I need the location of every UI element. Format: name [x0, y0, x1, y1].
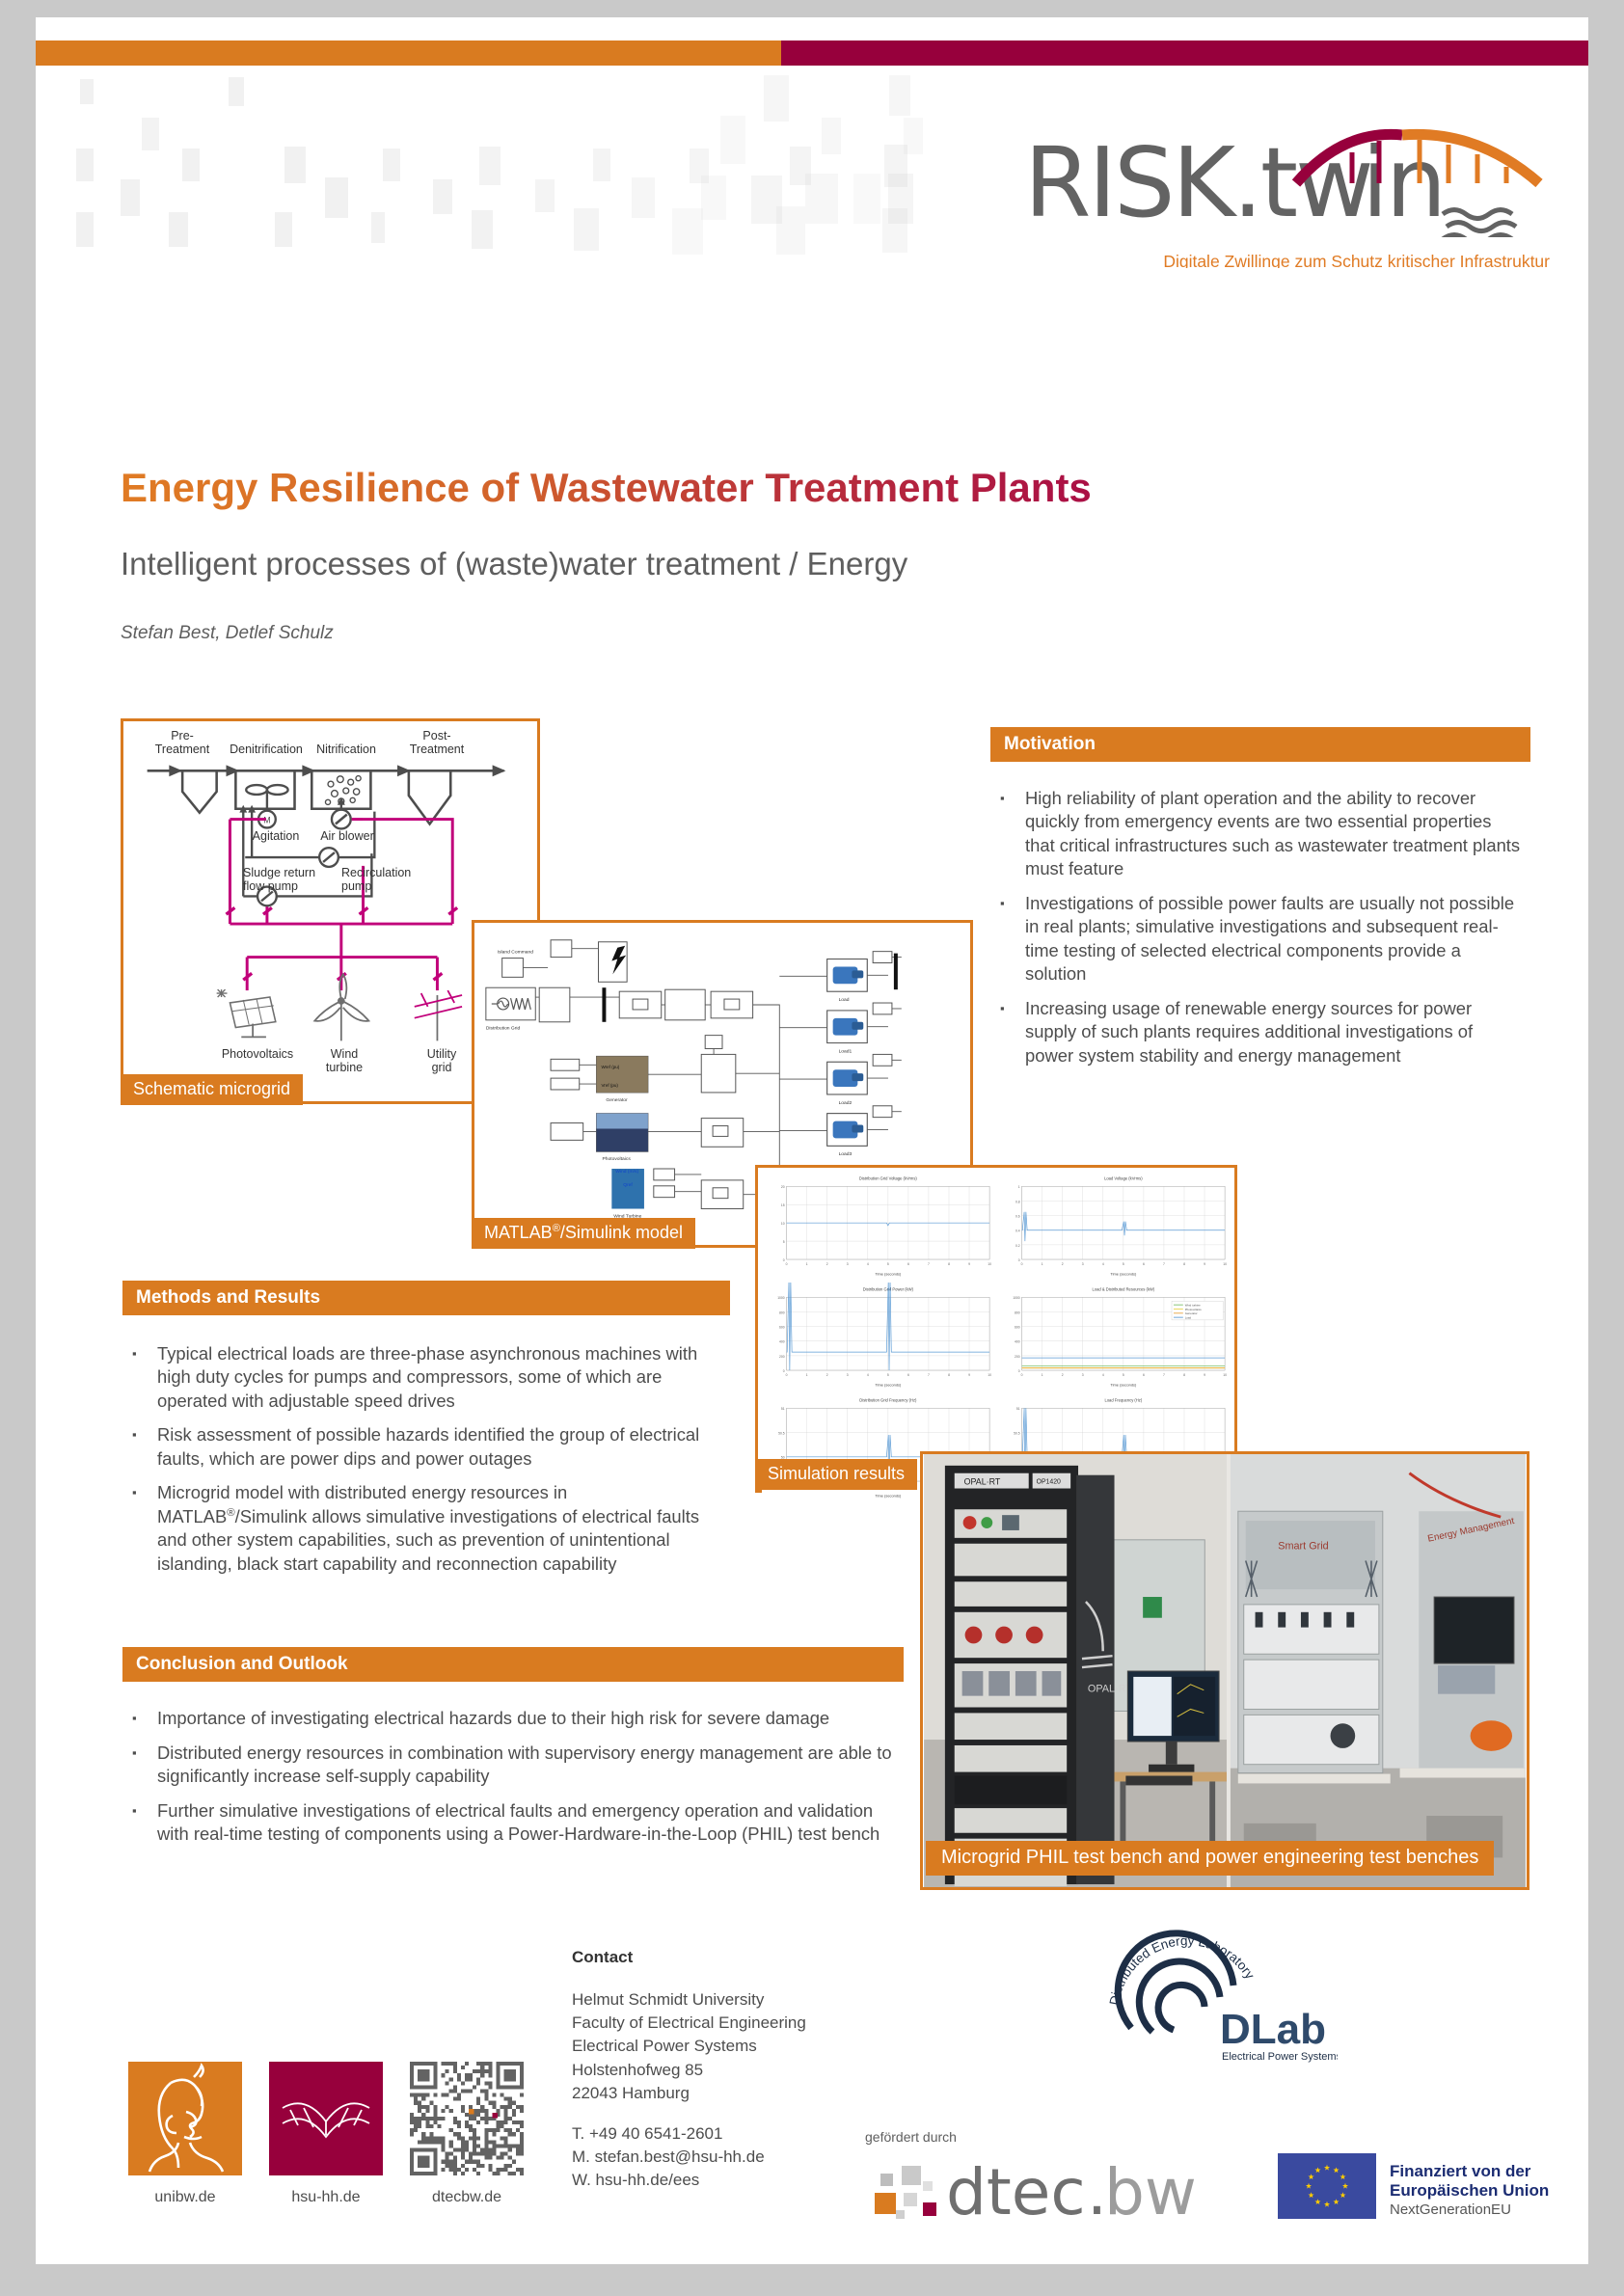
contact-line: Electrical Power Systems [572, 2035, 806, 2058]
bullet-text: Further simulative investigations of ele… [157, 1799, 894, 1847]
svg-text:2: 2 [1062, 1373, 1064, 1377]
eu-line2: Europäischen Union [1390, 2181, 1549, 2200]
svg-text:3: 3 [847, 1373, 849, 1377]
contact-line[interactable]: W. hsu-hh.de/ees [572, 2169, 806, 2192]
conclusion-bullet-list: ▪ Importance of investigating electrical… [132, 1707, 894, 1857]
svg-text:0.6: 0.6 [1015, 1215, 1020, 1219]
svg-text:Generator: Generator [606, 1097, 628, 1103]
bullet-text: Investigations of possible power faults … [1025, 892, 1521, 986]
svg-text:0: 0 [1021, 1262, 1023, 1266]
bullet-item: ▪ Importance of investigating electrical… [132, 1707, 894, 1731]
bullet-item: ▪ High reliability of plant operation an… [1000, 787, 1521, 881]
svg-text:in: in [1362, 126, 1444, 237]
bullet-item: ▪ Microgrid model with distributed energ… [132, 1481, 711, 1576]
plot-xlabel: Time (seconds) [1110, 1272, 1137, 1277]
dlab-logo: Distributed Energy Laboratory DLab Elect… [1096, 1922, 1338, 2066]
svg-text:0.2: 0.2 [1015, 1244, 1020, 1248]
svg-text:9: 9 [1204, 1262, 1205, 1266]
bullet-item: ▪ Further simulative investigations of e… [132, 1799, 894, 1847]
svg-text:2: 2 [826, 1373, 828, 1377]
svg-text:1000: 1000 [777, 1296, 785, 1300]
bridge-icon [269, 2062, 383, 2175]
source-label-utility-grid: Utilitygrid [411, 1047, 473, 1075]
svg-text:Load1: Load1 [839, 1048, 853, 1054]
svg-text:Load: Load [839, 997, 850, 1003]
eu-funding-logo: Finanziert von der Europäischen Union Ne… [1278, 2153, 1567, 2226]
svg-text:0: 0 [1021, 1373, 1023, 1377]
stage-label-pre-treatment: Pre-Treatment [147, 729, 218, 757]
eu-flag-icon: Finanziert von der Europäischen Union Ne… [1278, 2153, 1567, 2221]
stage-label-nitrification: Nitrification [299, 743, 393, 756]
svg-text:1: 1 [1018, 1185, 1020, 1189]
component-label-agitation: Agitation [241, 829, 311, 843]
bullet-item: ▪ Increasing usage of renewable energy s… [1000, 997, 1521, 1067]
bullet-text: Increasing usage of renewable energy sou… [1025, 997, 1521, 1067]
contact-heading: Contact [572, 1946, 806, 1969]
page-subtitle: Intelligent processes of (waste)water tr… [121, 546, 907, 582]
svg-text:50.5: 50.5 [1014, 1432, 1020, 1436]
component-label-sludge-pump: Sludge returnflow pump [243, 866, 336, 894]
section-heading-motivation: Motivation [990, 727, 1530, 762]
svg-text:6: 6 [1143, 1373, 1145, 1377]
bullet-marker: ▪ [1000, 997, 1025, 1067]
svg-text:400: 400 [1015, 1340, 1020, 1344]
bullet-marker: ▪ [1000, 892, 1025, 986]
bullet-text: Importance of investigating electrical h… [157, 1707, 894, 1731]
svg-text:0: 0 [786, 1262, 788, 1266]
svg-text:7: 7 [928, 1373, 930, 1377]
plot-title: Distribution Grid Voltage (kVrms) [859, 1175, 918, 1180]
svg-text:800: 800 [1015, 1311, 1020, 1315]
plot-title: Load & Distributed Resources (kW) [1093, 1287, 1155, 1292]
svg-text:10: 10 [988, 1373, 991, 1377]
authors: Stefan Best, Detlef Schulz [121, 623, 334, 644]
svg-text:10: 10 [781, 1222, 785, 1226]
svg-text:Load3: Load3 [839, 1151, 853, 1157]
svg-text:10: 10 [1223, 1262, 1227, 1266]
top-bar-crimson [781, 41, 1588, 66]
svg-text:7: 7 [1163, 1262, 1165, 1266]
bullet-marker: ▪ [1000, 787, 1025, 881]
svg-text:5: 5 [887, 1262, 889, 1266]
svg-text:Vref (pu): Vref (pu) [601, 1083, 618, 1088]
testbench-photo: OPAL·RT OP1420 OPAL·RT [923, 1454, 1527, 1887]
plot-xlabel: Time (seconds) [875, 1494, 902, 1499]
bullet-text: Risk assessment of possible hazards iden… [157, 1423, 711, 1471]
svg-text:8: 8 [1183, 1373, 1185, 1377]
svg-text:0: 0 [783, 1258, 785, 1262]
svg-text:Load: Load [1185, 1316, 1192, 1320]
svg-text:9: 9 [1204, 1373, 1205, 1377]
svg-text:9: 9 [968, 1262, 970, 1266]
svg-text:Smart Grid: Smart Grid [1278, 1541, 1328, 1553]
bullet-text: Distributed energy resources in combinat… [157, 1742, 894, 1789]
stage-label-post-treatment: Post-Treatment [397, 729, 476, 757]
svg-text:OPAL·RT: OPAL·RT [964, 1477, 1001, 1487]
source-label-wind-turbine: Windturbine [311, 1047, 378, 1075]
svg-text:1: 1 [1042, 1373, 1043, 1377]
logo-unibw[interactable]: unibw.de [128, 2062, 242, 2206]
contact-line: Holstenhofweg 85 [572, 2059, 806, 2082]
svg-text:7: 7 [1163, 1373, 1165, 1377]
contact-line[interactable]: M. stefan.best@hsu-hh.de [572, 2146, 806, 2169]
section-heading-conclusion: Conclusion and Outlook [122, 1647, 904, 1682]
bullet-marker: ▪ [132, 1342, 157, 1413]
plot-xlabel: Time (seconds) [875, 1272, 902, 1277]
svg-text:8: 8 [1183, 1262, 1185, 1266]
logo-hsu-label: hsu-hh.de [269, 2189, 383, 2206]
bullet-marker: ▪ [132, 1707, 157, 1731]
page-title: Energy Resilience of Wastewater Treatmen… [121, 465, 1092, 511]
schematic-caption: Schematic microgrid [121, 1074, 303, 1105]
testbench-caption: Microgrid PHIL test bench and power engi… [926, 1841, 1494, 1876]
top-bar-orange [36, 41, 781, 66]
bullet-item: ▪ Risk assessment of possible hazards id… [132, 1423, 711, 1471]
svg-text:51: 51 [1016, 1408, 1020, 1412]
svg-text:9: 9 [968, 1373, 970, 1377]
svg-text:8: 8 [948, 1373, 950, 1377]
logo-hsu[interactable]: hsu-hh.de [269, 2062, 383, 2206]
simulink-caption-post: /Simulink model [560, 1223, 683, 1242]
plot-title: Load Frequency (Hz) [1104, 1398, 1142, 1403]
svg-text:0.4: 0.4 [1015, 1229, 1020, 1233]
logo-unibw-label: unibw.de [128, 2189, 242, 2206]
plot-xlabel: Time (seconds) [875, 1383, 902, 1388]
risktwin-logo-mark: RISK.tw in [1024, 123, 1550, 237]
header-band: RISK.tw in [36, 66, 1588, 268]
svg-text:Wind (m/s): Wind (m/s) [615, 1169, 638, 1175]
plot-title: Distribution Grid Frequency (Hz) [859, 1398, 917, 1403]
svg-text:10: 10 [1223, 1373, 1227, 1377]
svg-text:8: 8 [948, 1262, 950, 1266]
dtecbw-suffix: bw [1104, 2155, 1197, 2224]
top-color-bar [36, 41, 1588, 66]
svg-text:6: 6 [907, 1262, 909, 1266]
svg-text:0.8: 0.8 [1015, 1200, 1020, 1203]
svg-text:Wref (pu): Wref (pu) [601, 1065, 619, 1069]
svg-text:4: 4 [867, 1262, 869, 1266]
eu-line3: NextGenerationEU [1390, 2201, 1511, 2218]
dlab-arc-text: Distributed Energy Laboratory [1107, 1933, 1258, 2007]
svg-text:RISK.tw: RISK.tw [1024, 126, 1371, 237]
svg-text:4: 4 [1102, 1373, 1104, 1377]
bullet-marker: ▪ [132, 1481, 157, 1576]
svg-text:Island Command: Island Command [498, 950, 534, 956]
svg-text:15: 15 [781, 1203, 785, 1207]
svg-text:20: 20 [781, 1185, 785, 1189]
svg-text:5: 5 [887, 1373, 889, 1377]
svg-text:3: 3 [847, 1262, 849, 1266]
logo-dtecbw-qr[interactable]: dtecbw.de [410, 2062, 524, 2206]
poster-sheet: RISK.tw in [36, 17, 1588, 2264]
svg-text:600: 600 [779, 1326, 785, 1330]
simulink-caption: MATLAB®/Simulink model [472, 1218, 695, 1249]
simulation-plot: Load & Distributed Resources (kW) 020040… [997, 1283, 1231, 1391]
simulation-plot-grid: Distribution Grid Voltage (kVrms) 051015… [762, 1172, 1231, 1486]
motivation-bullet-list: ▪ High reliability of plant operation an… [1000, 787, 1521, 1078]
svg-text:OPAL·RT: OPAL·RT [1088, 1684, 1132, 1695]
dtecbw-word: dtec [946, 2155, 1086, 2224]
dlab-wordmark: DLab [1220, 2006, 1326, 2053]
bullet-item: ▪ Investigations of possible power fault… [1000, 892, 1521, 986]
simulation-plot: Distribution Grid Power (kW) 02004006008… [762, 1283, 995, 1391]
svg-text:3: 3 [1082, 1262, 1084, 1266]
dtecbw-logo: dtec . bw [863, 2147, 1239, 2228]
contact-line: Helmut Schmidt University [572, 1988, 806, 2012]
contact-details[interactable]: T. +49 40 6541-2601M. stefan.best@hsu-hh… [572, 2122, 806, 2192]
svg-text:50.5: 50.5 [778, 1432, 785, 1436]
bullet-marker: ▪ [132, 1423, 157, 1471]
poster-root: RISK.tw in [0, 0, 1624, 2296]
svg-text:5: 5 [783, 1240, 785, 1244]
contact-line[interactable]: T. +49 40 6541-2601 [572, 2122, 806, 2146]
svg-text:1: 1 [806, 1262, 808, 1266]
simulation-results-figure: Distribution Grid Voltage (kVrms) 051015… [755, 1165, 1237, 1493]
minerva-head-icon [128, 2062, 242, 2175]
bullet-marker: ▪ [132, 1799, 157, 1847]
simulation-plot: Load Voltage (kVrms) 00.20.40.60.8101234… [997, 1172, 1231, 1281]
svg-text:400: 400 [779, 1340, 785, 1344]
risktwin-logo: RISK.tw in [1024, 123, 1550, 268]
bullet-item: ▪ Distributed energy resources in combin… [132, 1742, 894, 1789]
simulink-caption-pre: MATLAB [484, 1223, 553, 1242]
svg-text:0: 0 [786, 1373, 788, 1377]
dlab-logo-mark: Distributed Energy Laboratory DLab Elect… [1096, 1922, 1338, 2066]
svg-text:2: 2 [826, 1262, 828, 1266]
svg-text:5: 5 [1123, 1373, 1124, 1377]
svg-text:800: 800 [779, 1311, 785, 1315]
svg-text:51: 51 [781, 1408, 785, 1412]
svg-text:7: 7 [928, 1262, 930, 1266]
risktwin-tagline: Digitale Zwillinge zum Schutz kritischer… [1163, 252, 1550, 268]
bullet-text: Typical electrical loads are three-phase… [157, 1342, 711, 1413]
testbench-photo-figure: OPAL·RT OP1420 OPAL·RT [920, 1451, 1529, 1890]
svg-text:Load2: Load2 [839, 1100, 853, 1106]
qr-code-icon [410, 2062, 524, 2175]
svg-text:1: 1 [806, 1373, 808, 1377]
funding-note: gefördert durch [865, 2129, 957, 2145]
svg-text:3: 3 [1082, 1373, 1084, 1377]
simulation-plot: Distribution Grid Voltage (kVrms) 051015… [762, 1172, 995, 1281]
svg-text:Qref: Qref [623, 1182, 633, 1188]
contact-block: Contact Helmut Schmidt UniversityFaculty… [572, 1946, 806, 2192]
source-label-photovoltaics: Photovoltaics [214, 1047, 301, 1061]
svg-text:4: 4 [867, 1373, 869, 1377]
dlab-subtitle: Electrical Power Systems [1222, 2051, 1338, 2063]
bullet-text: Microgrid model with distributed energy … [157, 1481, 711, 1576]
contact-line: 22043 Hamburg [572, 2082, 806, 2105]
section-heading-methods: Methods and Results [122, 1281, 730, 1315]
svg-text:200: 200 [779, 1355, 785, 1359]
svg-text:600: 600 [1015, 1326, 1020, 1330]
svg-text:Photovoltaics: Photovoltaics [602, 1156, 631, 1162]
svg-text:2: 2 [1062, 1262, 1064, 1266]
svg-text:10: 10 [988, 1262, 991, 1266]
eu-line1: Finanziert von der [1390, 2162, 1531, 2180]
svg-text:6: 6 [907, 1373, 909, 1377]
simulation-caption: Simulation results [755, 1459, 917, 1490]
svg-text:OP1420: OP1420 [1037, 1479, 1061, 1486]
svg-text:200: 200 [1015, 1355, 1020, 1359]
logo-dtecbw-label: dtecbw.de [410, 2189, 524, 2206]
bullet-text: High reliability of plant operation and … [1025, 787, 1521, 881]
contact-organisation: Helmut Schmidt UniversityFaculty of Elec… [572, 1988, 806, 2105]
svg-text:6: 6 [1143, 1262, 1145, 1266]
bullet-item: ▪ Typical electrical loads are three-pha… [132, 1342, 711, 1413]
svg-text:0: 0 [1018, 1258, 1020, 1262]
simulink-caption-sup: ® [553, 1223, 560, 1234]
svg-text:4: 4 [1102, 1262, 1104, 1266]
bullet-marker: ▪ [132, 1742, 157, 1789]
component-label-air-blower: Air blower [312, 829, 382, 843]
methods-bullet-list: ▪ Typical electrical loads are three-pha… [132, 1342, 711, 1586]
svg-text:0: 0 [783, 1369, 785, 1373]
svg-text:1: 1 [1042, 1262, 1043, 1266]
svg-text:0: 0 [1018, 1369, 1020, 1373]
svg-text:1000: 1000 [1013, 1296, 1020, 1300]
plot-xlabel: Time (seconds) [1110, 1383, 1137, 1388]
dtecbw-logo-mark: dtec . bw [863, 2147, 1239, 2224]
svg-text:Distributed Energy Laboratory: Distributed Energy Laboratory [1107, 1933, 1258, 2007]
component-label-recirculation-pump: Recirculationpump [341, 866, 428, 894]
svg-text:5: 5 [1123, 1262, 1124, 1266]
plot-title: Load Voltage (kVrms) [1104, 1175, 1143, 1180]
contact-line: Faculty of Electrical Engineering [572, 2012, 806, 2035]
svg-text:Distribution Grid: Distribution Grid [486, 1026, 521, 1032]
